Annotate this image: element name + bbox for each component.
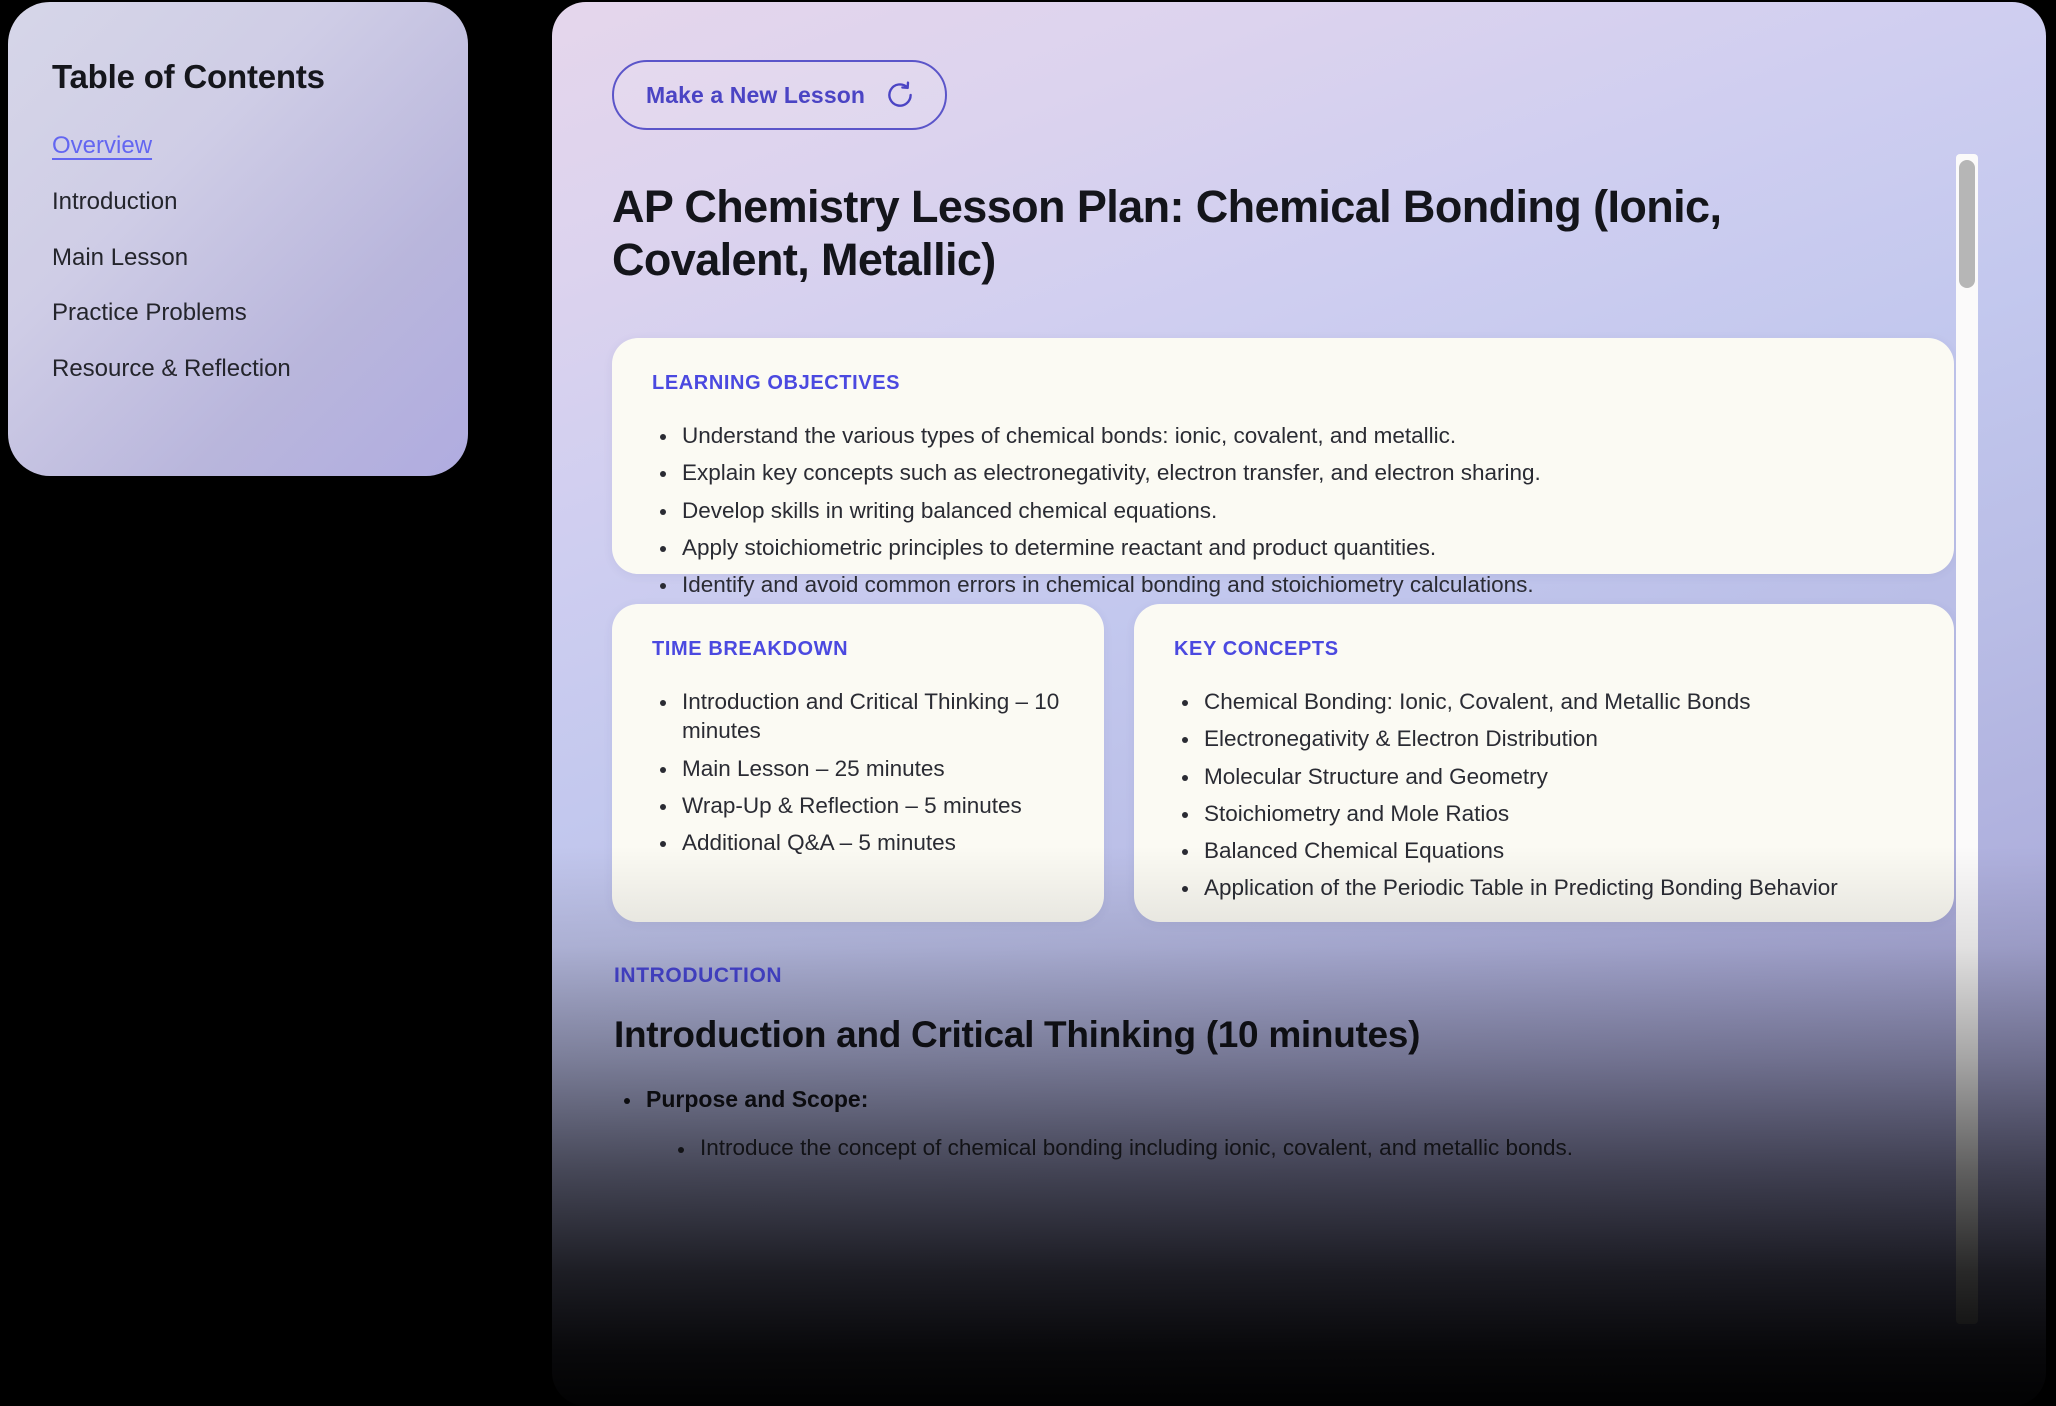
list-item: Purpose and Scope: Introduce the concept… bbox=[614, 1086, 1954, 1161]
table-of-contents-title: Table of Contents bbox=[52, 58, 424, 96]
introduction-list: Purpose and Scope: Introduce the concept… bbox=[614, 1086, 1954, 1161]
list-item: Explain key concepts such as electronega… bbox=[652, 458, 1914, 487]
make-a-new-lesson-label: Make a New Lesson bbox=[646, 84, 865, 107]
page-title: AP Chemistry Lesson Plan: Chemical Bondi… bbox=[612, 180, 1877, 286]
learning-objectives-label: LEARNING OBJECTIVES bbox=[652, 372, 1914, 395]
time-breakdown-label: TIME BREAKDOWN bbox=[652, 638, 1064, 661]
list-item: Understand the various types of chemical… bbox=[652, 421, 1914, 450]
list-item: Application of the Periodic Table in Pre… bbox=[1174, 873, 1914, 902]
list-item: Molecular Structure and Geometry bbox=[1174, 762, 1914, 791]
left-background bbox=[0, 478, 470, 1406]
lesson-content-scroll-area[interactable]: Make a New Lesson AP Chemistry Lesson Pl… bbox=[552, 2, 2046, 1406]
learning-objectives-card: LEARNING OBJECTIVES Understand the vario… bbox=[612, 338, 1954, 574]
list-item: Wrap-Up & Reflection – 5 minutes bbox=[652, 791, 1064, 820]
list-item: Balanced Chemical Equations bbox=[1174, 836, 1914, 865]
list-item: Develop skills in writing balanced chemi… bbox=[652, 496, 1914, 525]
vertical-scrollbar-track[interactable] bbox=[1956, 154, 1978, 1324]
list-item: Chemical Bonding: Ionic, Covalent, and M… bbox=[1174, 687, 1914, 716]
list-item: Introduction and Critical Thinking – 10 … bbox=[652, 687, 1064, 746]
key-concepts-list: Chemical Bonding: Ionic, Covalent, and M… bbox=[1174, 687, 1914, 903]
introduction-bullet-label: Purpose and Scope: bbox=[646, 1086, 868, 1112]
list-item: Main Lesson – 25 minutes bbox=[652, 754, 1064, 783]
introduction-kicker: INTRODUCTION bbox=[614, 964, 1954, 988]
list-item: Introduce the concept of chemical bondin… bbox=[668, 1135, 1954, 1161]
make-a-new-lesson-button[interactable]: Make a New Lesson bbox=[612, 60, 947, 130]
list-item: Electronegativity & Electron Distributio… bbox=[1174, 724, 1914, 753]
lesson-panel: Make a New Lesson AP Chemistry Lesson Pl… bbox=[552, 2, 2046, 1406]
introduction-sublist: Introduce the concept of chemical bondin… bbox=[668, 1135, 1954, 1161]
sidebar-item-introduction[interactable]: Introduction bbox=[52, 188, 424, 217]
time-breakdown-list: Introduction and Critical Thinking – 10 … bbox=[652, 687, 1064, 857]
time-breakdown-card: TIME BREAKDOWN Introduction and Critical… bbox=[612, 604, 1104, 922]
sidebar-item-resource-reflection[interactable]: Resource & Reflection bbox=[52, 355, 424, 384]
table-of-contents-nav: Overview Introduction Main Lesson Practi… bbox=[52, 132, 424, 384]
app-root: Table of Contents Overview Introduction … bbox=[0, 0, 2056, 1406]
list-item: Stoichiometry and Mole Ratios bbox=[1174, 799, 1914, 828]
learning-objectives-list: Understand the various types of chemical… bbox=[652, 421, 1914, 599]
introduction-section: INTRODUCTION Introduction and Critical T… bbox=[612, 964, 1954, 1161]
sidebar-item-practice-problems[interactable]: Practice Problems bbox=[52, 299, 424, 328]
table-of-contents-panel: Table of Contents Overview Introduction … bbox=[8, 2, 468, 476]
vertical-scrollbar-thumb[interactable] bbox=[1959, 160, 1975, 288]
summary-cards-row: TIME BREAKDOWN Introduction and Critical… bbox=[612, 604, 1954, 922]
sidebar-item-main-lesson[interactable]: Main Lesson bbox=[52, 244, 424, 273]
list-item: Additional Q&A – 5 minutes bbox=[652, 828, 1064, 857]
list-item: Apply stoichiometric principles to deter… bbox=[652, 533, 1914, 562]
key-concepts-label: KEY CONCEPTS bbox=[1174, 638, 1914, 661]
key-concepts-card: KEY CONCEPTS Chemical Bonding: Ionic, Co… bbox=[1134, 604, 1954, 922]
introduction-heading: Introduction and Critical Thinking (10 m… bbox=[614, 1014, 1954, 1056]
sidebar-item-overview[interactable]: Overview bbox=[52, 132, 424, 161]
refresh-counterclockwise-icon bbox=[885, 80, 915, 110]
list-item: Identify and avoid common errors in chem… bbox=[652, 570, 1914, 599]
